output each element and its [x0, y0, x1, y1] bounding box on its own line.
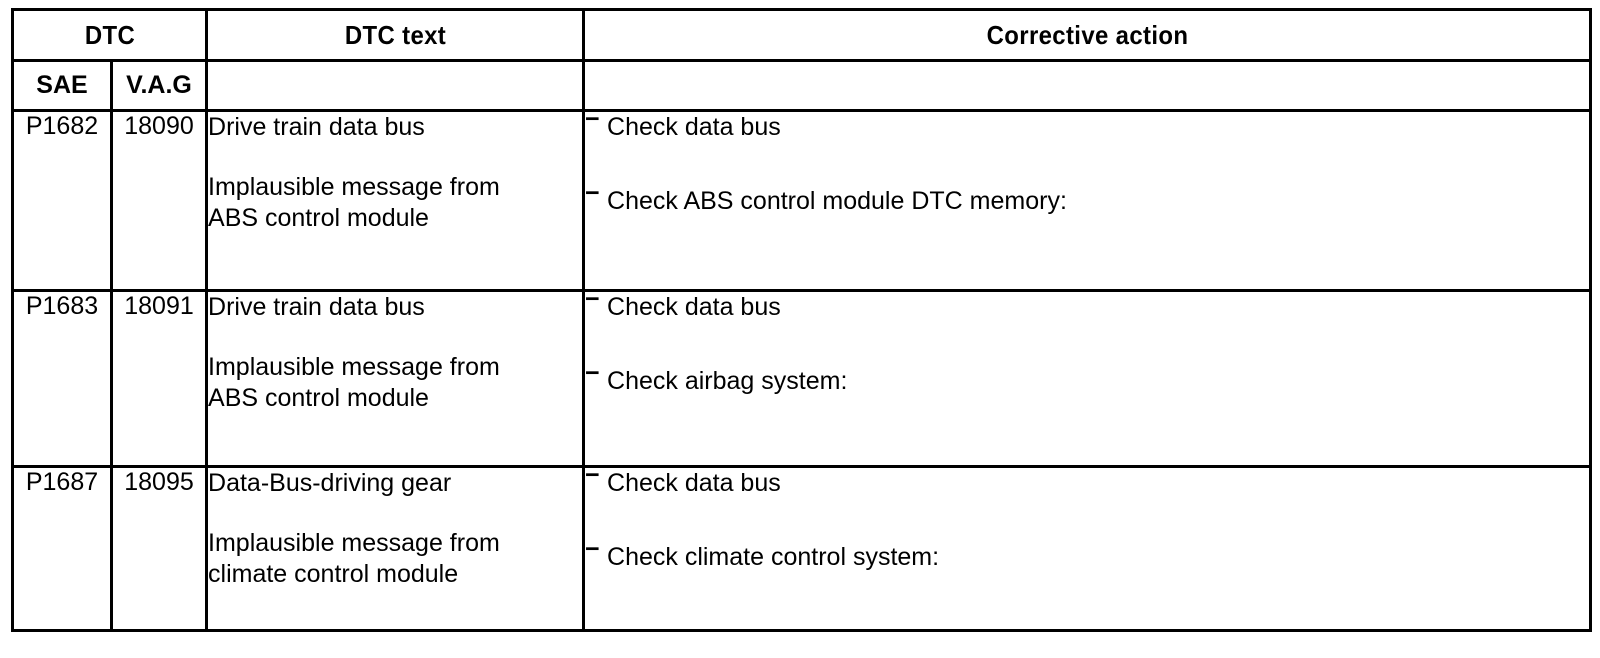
table-header: DTC DTC text Corrective action SAE V.A.G: [13, 10, 1591, 111]
dtc-text-body-line1: Implausible message from: [208, 528, 582, 560]
table-row: P1687 18095 Data-Bus-driving gear Implau…: [13, 467, 1591, 631]
cell-sae-code: P1682: [13, 111, 112, 291]
cell-vag-code: 18091: [112, 291, 207, 467]
text-spacer: [208, 500, 582, 528]
header-sub-dtc-text-blank: [207, 61, 584, 111]
header-sub-action-blank: [584, 61, 1591, 111]
dtc-text-title: Drive train data bus: [208, 112, 582, 144]
header-row-sub: SAE V.A.G: [13, 61, 1591, 111]
cell-vag-code: 18090: [112, 111, 207, 291]
action-label: Check airbag system:: [607, 367, 847, 395]
table-body: P1682 18090 Drive train data bus Implaus…: [13, 111, 1591, 631]
dtc-text-body-line1: Implausible message from: [208, 352, 582, 384]
action-label: Check ABS control module DTC memory:: [607, 187, 1067, 215]
cell-sae-code: P1683: [13, 291, 112, 467]
header-sub-sae: SAE: [13, 61, 112, 111]
dash-bullet-icon: −: [585, 287, 600, 312]
action-list-item: − Check airbag system:: [585, 366, 1589, 398]
cell-dtc-text: Drive train data bus Implausible message…: [207, 291, 584, 467]
dtc-text-title: Drive train data bus: [208, 292, 582, 324]
dtc-text-title: Data-Bus-driving gear: [208, 468, 582, 500]
header-corrective-action: Corrective action: [624, 10, 1550, 61]
dtc-table: DTC DTC text Corrective action SAE V.A.G…: [11, 8, 1592, 632]
cell-corrective-action: − Check data bus − Check airbag system:: [584, 291, 1591, 467]
table-row: P1683 18091 Drive train data bus Implaus…: [13, 291, 1591, 467]
cell-sae-code: P1687: [13, 467, 112, 631]
action-list-item: − Check ABS control module DTC memory:: [585, 186, 1589, 218]
header-row-group: DTC DTC text Corrective action: [13, 10, 1591, 61]
cell-dtc-text: Data-Bus-driving gear Implausible messag…: [207, 467, 584, 631]
text-spacer: [208, 144, 582, 172]
header-dtc-group: DTC: [20, 10, 198, 61]
table-row: P1682 18090 Drive train data bus Implaus…: [13, 111, 1591, 291]
dtc-text-body-line2: ABS control module: [208, 383, 582, 415]
action-list-item: − Check data bus: [585, 468, 1589, 500]
text-spacer: [208, 324, 582, 352]
dash-bullet-icon: −: [585, 361, 600, 386]
cell-vag-code: 18095: [112, 467, 207, 631]
action-label: Check data bus: [607, 469, 781, 497]
cell-dtc-text: Drive train data bus Implausible message…: [207, 111, 584, 291]
header-sub-vag: V.A.G: [112, 61, 207, 111]
dash-bullet-icon: −: [585, 181, 600, 206]
action-list-item: − Check climate control system:: [585, 542, 1589, 574]
action-label: Check climate control system:: [607, 543, 939, 571]
dash-bullet-icon: −: [585, 463, 600, 488]
dtc-text-body-line2: ABS control module: [208, 203, 582, 235]
dtc-text-body-line2: climate control module: [208, 559, 582, 591]
dtc-text-body-line1: Implausible message from: [208, 172, 582, 204]
header-dtc-text: DTC text: [222, 10, 569, 61]
page-root: DTC DTC text Corrective action SAE V.A.G…: [0, 0, 1600, 658]
dash-bullet-icon: −: [585, 537, 600, 562]
action-list-item: − Check data bus: [585, 112, 1589, 144]
action-label: Check data bus: [607, 293, 781, 321]
dash-bullet-icon: −: [585, 107, 600, 132]
cell-corrective-action: − Check data bus − Check climate control…: [584, 467, 1591, 631]
action-label: Check data bus: [607, 113, 781, 141]
cell-corrective-action: − Check data bus − Check ABS control mod…: [584, 111, 1591, 291]
action-list-item: − Check data bus: [585, 292, 1589, 324]
